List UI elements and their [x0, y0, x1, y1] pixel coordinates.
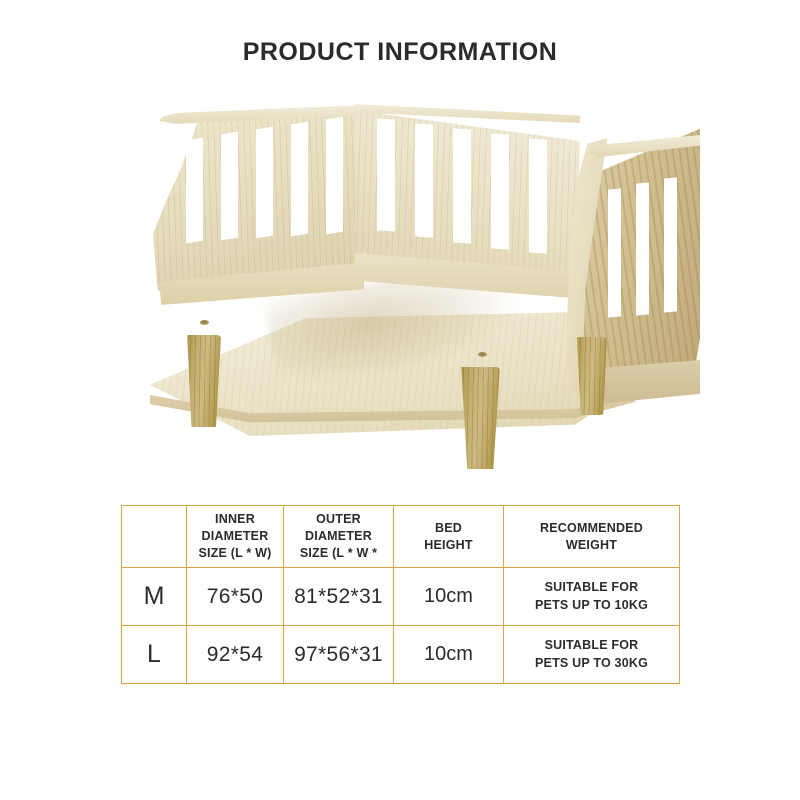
header-outer-diameter: OUTER DIAMETER SIZE (L * W * [284, 506, 394, 568]
header-bed-line1: BED [435, 521, 462, 535]
cell-size-l: L [122, 626, 187, 684]
cell-height-m: 10cm [394, 568, 504, 626]
screw-hole-icon [200, 320, 209, 325]
header-bed-line2: HEIGHT [424, 538, 472, 552]
specification-table: INNER DIAMETER SIZE (L * W) OUTER DIAMET… [121, 505, 680, 684]
cell-rec-m-line1: SUITABLE FOR [545, 580, 639, 594]
cell-inner-m: 76*50 [187, 568, 284, 626]
bed-rail-back-slat-gap [377, 118, 395, 231]
cell-size-m: M [122, 568, 187, 626]
cell-recommended-m: SUITABLE FOR PETS UP TO 10KG [504, 568, 680, 626]
bed-rail-left-slat-gap [326, 117, 343, 235]
header-inner-line1: INNER [215, 512, 255, 526]
bed-rail-right-slat-gap [664, 177, 677, 312]
table-row: M 76*50 81*52*31 10cm SUITABLE FOR PETS … [122, 568, 680, 626]
cell-recommended-l: SUITABLE FOR PETS UP TO 30KG [504, 626, 680, 684]
header-rec-line2: WEIGHT [566, 538, 617, 552]
header-inner-line3: SIZE (L * W) [199, 546, 272, 560]
bed-rail-back-slat-gap [529, 138, 547, 253]
cell-rec-m-line2: PETS UP TO 10KG [535, 598, 648, 612]
bed-rail-right-slat-gap [608, 188, 621, 317]
bed-rail-back-slat-gap [453, 128, 471, 243]
table-header-row: INNER DIAMETER SIZE (L * W) OUTER DIAMET… [122, 506, 680, 568]
cell-outer-l: 97*56*31 [284, 626, 394, 684]
bed-rail-left-slat-gap [186, 138, 203, 244]
bed-rail-left [130, 105, 360, 320]
bed-rail-back-slat-gap [415, 123, 433, 237]
table-row: L 92*54 97*56*31 10cm SUITABLE FOR PETS … [122, 626, 680, 684]
cell-outer-m: 81*52*31 [284, 568, 394, 626]
bed-rail-back-slat-gap [491, 133, 509, 249]
bed-leg-back-left-grain [185, 335, 221, 427]
product-image [120, 105, 700, 480]
cell-height-l: 10cm [394, 626, 504, 684]
cell-rec-l-line2: PETS UP TO 30KG [535, 656, 648, 670]
header-bed-height: BED HEIGHT [394, 506, 504, 568]
cell-inner-l: 92*54 [187, 626, 284, 684]
header-outer-line1: OUTER [316, 512, 361, 526]
header-rec-line1: RECOMMENDED [540, 521, 643, 535]
header-outer-line3: SIZE (L * W * [300, 546, 377, 560]
header-size [122, 506, 187, 568]
screw-hole-icon [478, 352, 487, 357]
header-outer-line2: DIAMETER [305, 529, 372, 543]
header-recommended-weight: RECOMMENDED WEIGHT [504, 506, 680, 568]
header-inner-line2: DIAMETER [202, 529, 269, 543]
bed-rail-left-slat-gap [256, 127, 273, 239]
bed-rail-left-slat-gap [291, 122, 308, 237]
bed-rail-right-slat-gap [636, 182, 649, 315]
bed-rail-back [355, 97, 580, 317]
header-inner-diameter: INNER DIAMETER SIZE (L * W) [187, 506, 284, 568]
page-title: PRODUCT INFORMATION [0, 38, 800, 67]
cell-rec-l-line1: SUITABLE FOR [545, 638, 639, 652]
product-information-page: PRODUCT INFORMATION [0, 0, 800, 800]
bed-rail-left-slat-gap [221, 132, 238, 241]
